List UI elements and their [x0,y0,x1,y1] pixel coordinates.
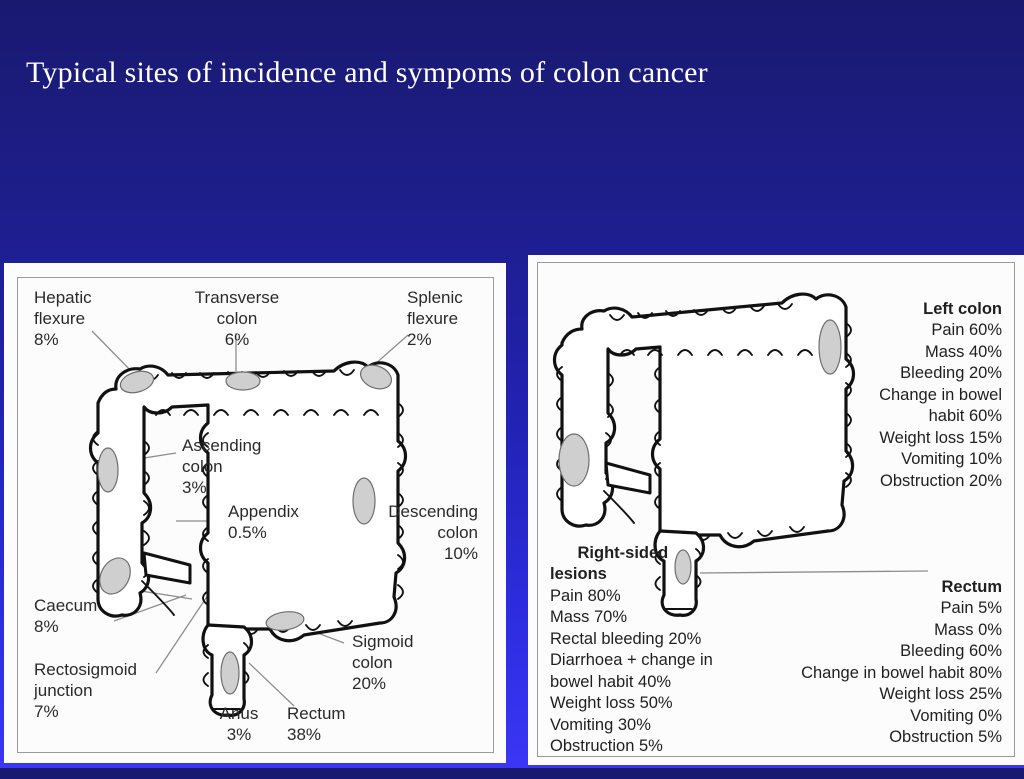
label-transverse-colon: Transversecolon6% [176,287,298,350]
rectum-item: Mass 0% [934,621,1002,639]
right-sided-item: Pain 80% [550,587,621,605]
left-colon-item: Vomiting 10% [901,450,1002,468]
rectum-item: Pain 5% [941,599,1002,617]
left-colon-item: Mass 40% [925,343,1002,361]
rectum-item: Bleeding 60% [900,642,1002,660]
label-ascending-colon: Ascendingcolon3% [182,435,261,498]
right-sided-item: Vomiting 30% [550,716,651,734]
left-colon-item: Bleeding 20% [900,364,1002,382]
left-colon-item: Pain 60% [931,321,1002,339]
rectum-item: Vomiting 0% [910,707,1002,725]
left-colon-item: Obstruction 20% [880,472,1002,490]
label-rectum: Rectum38% [287,703,346,745]
right-sided-item: Mass 70% [550,608,627,626]
right-sided-item: Obstruction 5% [550,737,663,755]
label-descending-colon: Descendingcolon10% [322,501,478,564]
label-rectosigmoid-junction: Rectosigmoidjunction7% [34,659,137,722]
left-colon-item: Change in bowel [879,386,1002,404]
label-hepatic-flexure: Hepaticflexure8% [34,287,92,350]
left-colon-symptom-list: Left colonPain 60%Mass 40%Bleeding 20%Ch… [742,277,1002,514]
label-splenic-flexure: Splenicflexure2% [407,287,463,350]
slide-canvas: Typical sites of incidence and sympoms o… [0,0,1024,768]
rectum-item: Weight loss 25% [879,685,1002,703]
page-title: Typical sites of incidence and sympoms o… [26,54,986,92]
right-sided-heading-line2: lesions [550,565,607,583]
incidence-figure-panel: Hepaticflexure8% Transversecolon6% Splen… [4,263,506,763]
right-sided-item: Rectal bleeding 20% [550,630,701,648]
right-sided-item: bowel habit 40% [550,673,671,691]
rectum-item: Obstruction 5% [889,728,1002,746]
label-anus: Anus3% [200,703,278,745]
right-sided-item: Weight loss 50% [550,694,673,712]
left-colon-item: habit 60% [929,407,1002,425]
label-caecum: Caecum8% [34,595,97,637]
label-appendix: Appendix0.5% [228,501,299,543]
left-colon-item: Weight loss 15% [879,429,1002,447]
rectum-symptom-list: RectumPain 5%Mass 0%Bleeding 60%Change i… [682,555,1002,770]
rectum-item: Change in bowel habit 80% [801,664,1002,682]
left-colon-heading: Left colon [923,300,1002,318]
label-sigmoid-colon: Sigmoidcolon20% [352,631,413,694]
symptoms-figure-panel: Left colonPain 60%Mass 40%Bleeding 20%Ch… [528,255,1024,765]
rectum-heading: Rectum [941,578,1002,596]
right-sided-heading-line1: Right-sided [578,544,669,562]
